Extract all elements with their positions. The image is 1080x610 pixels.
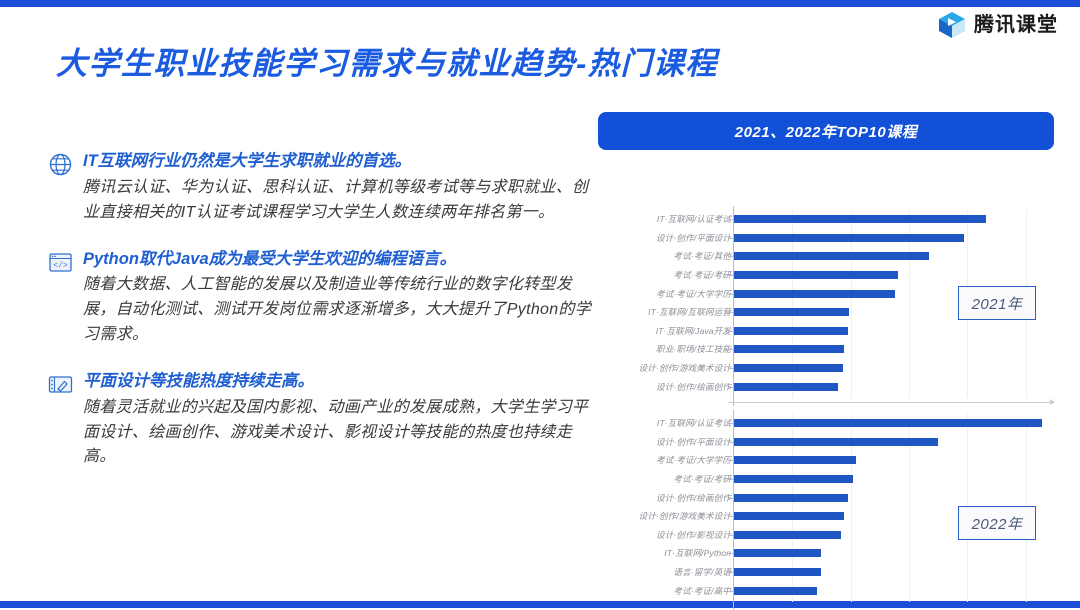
bar	[734, 512, 844, 520]
axis-tick	[728, 331, 733, 332]
bar-category-label: IT·互联网/互联网运营	[605, 306, 731, 318]
axis-tick	[728, 591, 733, 592]
insight-item: </> Python取代Java成为最受大学生欢迎的编程语言。 随着大数据、人工…	[48, 248, 593, 348]
bar-category-label: IT·互联网/Python	[605, 547, 731, 559]
bar-category-label: 考试·考证/高中	[605, 585, 731, 597]
insight-heading: Python取代Java成为最受大学生欢迎的编程语言。	[83, 248, 593, 272]
bar	[734, 531, 841, 539]
axis-tick	[728, 442, 733, 443]
bar-category-label: 考试·考证/考研	[605, 473, 731, 485]
axis-tick	[728, 368, 733, 369]
year-badge-2021: 2021年	[958, 286, 1036, 320]
insight-body: 随着大数据、人工智能的发展以及制造业等传统行业的数字化转型发展，自动化测试、测试…	[83, 273, 593, 347]
bar-row: IT·互联网/Java开发	[598, 322, 1054, 341]
globe-icon	[48, 152, 73, 177]
bar-category-label: 语言·留学/英语	[605, 566, 731, 578]
bar-category-label: 设计·创作/绘画创作	[605, 381, 731, 393]
axis-tick	[728, 553, 733, 554]
axis-tick	[728, 479, 733, 480]
brand-logo-text: 腾讯课堂	[974, 15, 1058, 35]
bar	[734, 549, 821, 557]
bar	[734, 252, 929, 260]
bar-category-label: 考试·考证/考研	[605, 269, 731, 281]
year-badge-2022: 2022年	[958, 506, 1036, 540]
bar	[734, 290, 895, 298]
axis-tick	[728, 460, 733, 461]
axis-tick	[728, 535, 733, 536]
bar-category-label: 考试·考证/大学学历	[605, 454, 731, 466]
bar-category-label: IT·互联网/Java开发	[605, 325, 731, 337]
bar	[734, 271, 898, 279]
bar	[734, 494, 848, 502]
bar-category-label: 考试·考证/其他	[605, 250, 731, 262]
bottom-accent-rule	[0, 601, 1080, 608]
axis-tick	[728, 219, 733, 220]
bar	[734, 383, 838, 391]
bar-row: 设计·创作/绘画创作	[598, 377, 1054, 396]
bar-row: IT·互联网/认证考试	[598, 414, 1054, 433]
axis-tick	[728, 349, 733, 350]
bar-row: 考试·考证/考研	[598, 470, 1054, 489]
brand-logo: 腾讯课堂	[937, 10, 1058, 40]
bar-row: IT·互联网/Python	[598, 544, 1054, 563]
bar	[734, 308, 849, 316]
design-tablet-icon	[48, 372, 73, 397]
bar	[734, 568, 821, 576]
bar	[734, 587, 817, 595]
bar-row: 考试·考证/大学学历	[598, 451, 1054, 470]
axis-tick	[728, 516, 733, 517]
bar-category-label: 设计·创作/平面设计	[605, 232, 731, 244]
bar	[734, 234, 964, 242]
bar-row: 设计·创作/平面设计	[598, 433, 1054, 452]
axis-tick	[728, 387, 733, 388]
bar	[734, 345, 844, 353]
bar-row: 职业·职场/技工技能	[598, 340, 1054, 359]
chart-separator-arrow-icon	[1050, 399, 1055, 405]
bar-category-label: IT·互联网/认证考试	[605, 213, 731, 225]
axis-tick	[728, 238, 733, 239]
top-accent-rule	[0, 0, 1080, 7]
bar-category-label: 考试·考证/大学学历	[605, 288, 731, 300]
insight-item: 平面设计等技能热度持续走高。 随着灵活就业的兴起及国内影视、动画产业的发展成熟，…	[48, 370, 593, 470]
bar-category-label: 设计·创作/游戏美术设计	[605, 362, 731, 374]
axis-tick	[728, 498, 733, 499]
svg-text:</>: </>	[53, 261, 68, 270]
chart-panel: 2021、2022年TOP10课程 IT·互联网/认证考试设计·创作/平面设计考…	[598, 112, 1054, 574]
chart-separator	[728, 402, 1054, 403]
insights-list: IT互联网行业仍然是大学生求职就业的首选。 腾讯云认证、华为认证、思科认证、计算…	[48, 150, 593, 492]
bar-row: 设计·创作/平面设计	[598, 229, 1054, 248]
bar	[734, 327, 848, 335]
bar-row: 语言·留学/英语	[598, 563, 1054, 582]
insight-heading: 平面设计等技能热度持续走高。	[83, 370, 593, 394]
bar	[734, 364, 843, 372]
insight-body: 腾讯云认证、华为认证、思科认证、计算机等级考试等与求职就业、创业直接相关的IT认…	[83, 176, 593, 226]
axis-tick	[728, 312, 733, 313]
bar-row: 考试·考证/其他	[598, 247, 1054, 266]
slide-root: 腾讯课堂 大学生职业技能学习需求与就业趋势-热门课程 IT互联网行业仍然是大学生…	[0, 0, 1080, 608]
bar-category-label: 设计·创作/绘画创作	[605, 492, 731, 504]
bar-row: 设计·创作/绘画创作	[598, 488, 1054, 507]
bar-category-label: IT·互联网/认证考试	[605, 417, 731, 429]
axis-tick	[728, 423, 733, 424]
bar	[734, 438, 938, 446]
bar-category-label: 设计·创作/平面设计	[605, 436, 731, 448]
axis-tick	[728, 294, 733, 295]
page-title: 大学生职业技能学习需求与就业趋势-热门课程	[56, 38, 718, 83]
bar	[734, 475, 853, 483]
insight-heading: IT互联网行业仍然是大学生求职就业的首选。	[83, 150, 593, 174]
bar-row: 考试·考证/考研	[598, 266, 1054, 285]
bar-category-label: 职业·职场/技工技能	[605, 343, 731, 355]
bar-row: 考试·考证/高中	[598, 581, 1054, 600]
bar-category-label: 设计·创作/影视设计	[605, 529, 731, 541]
chart-panel-title: 2021、2022年TOP10课程	[598, 112, 1054, 150]
insight-body: 随着灵活就业的兴起及国内影视、动画产业的发展成熟，大学生学习平面设计、绘画创作、…	[83, 396, 593, 470]
tencent-classroom-logo-icon	[937, 10, 967, 40]
axis-tick	[728, 572, 733, 573]
bar	[734, 215, 986, 223]
bar	[734, 419, 1042, 427]
bar-row: 设计·创作/游戏美术设计	[598, 359, 1054, 378]
axis-tick	[728, 275, 733, 276]
code-window-icon: </>	[48, 250, 73, 275]
bar	[734, 456, 856, 464]
bar-row: IT·互联网/认证考试	[598, 210, 1054, 229]
insight-item: IT互联网行业仍然是大学生求职就业的首选。 腾讯云认证、华为认证、思科认证、计算…	[48, 150, 593, 226]
bar-category-label: 设计·创作/游戏美术设计	[605, 510, 731, 522]
chart-area: IT·互联网/认证考试设计·创作/平面设计考试·考证/其他考试·考证/考研考试·…	[598, 154, 1054, 574]
axis-tick	[728, 256, 733, 257]
